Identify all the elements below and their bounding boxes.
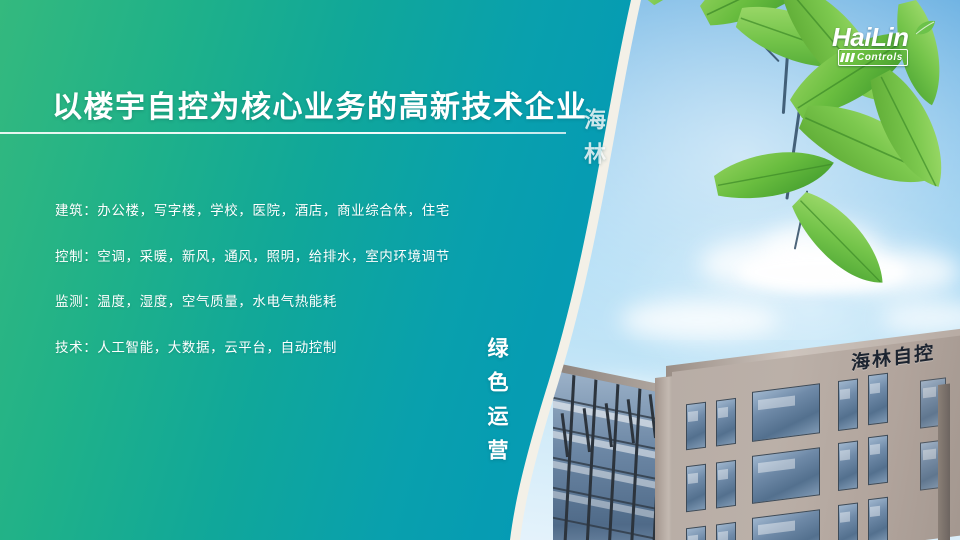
vertical-brand-label: 海林 — [576, 108, 608, 176]
list-item: 建筑：办公楼，写字楼，学校，医院，酒店，商业综合体，住宅 — [55, 205, 495, 219]
list-item: 监测：温度，湿度，空气质量，水电气热能耗 — [55, 296, 495, 310]
title-underline — [0, 132, 566, 134]
hailin-logo: HaiLin Controls — [832, 22, 950, 64]
page-title: 以楼宇自控为核心业务的高新技术企业 — [52, 82, 588, 126]
list-item: 技术：人工智能，大数据，云平台，自动控制 — [55, 342, 495, 356]
vertical-slogan-label: 绿色运营 — [482, 337, 512, 473]
list-item: 控制：空调，采暖，新风，通风，照明，给排水，室内环境调节 — [55, 251, 495, 265]
logo-subtitle-badge: Controls — [838, 49, 908, 66]
leaf — [784, 184, 898, 296]
building-right-edge — [938, 384, 950, 540]
slide-canvas: 海林自控 以楼宇自控为核心业务的高新技术企业 建筑：办公楼，写字楼，学校，医院， — [0, 0, 960, 540]
logo-subtitle: Controls — [857, 52, 903, 63]
leaf — [712, 141, 838, 207]
bullet-list: 建筑：办公楼，写字楼，学校，医院，酒店，商业综合体，住宅 控制：空调，采暖，新风… — [55, 205, 495, 387]
leaf-icon — [914, 20, 936, 36]
bars-icon — [841, 53, 854, 62]
